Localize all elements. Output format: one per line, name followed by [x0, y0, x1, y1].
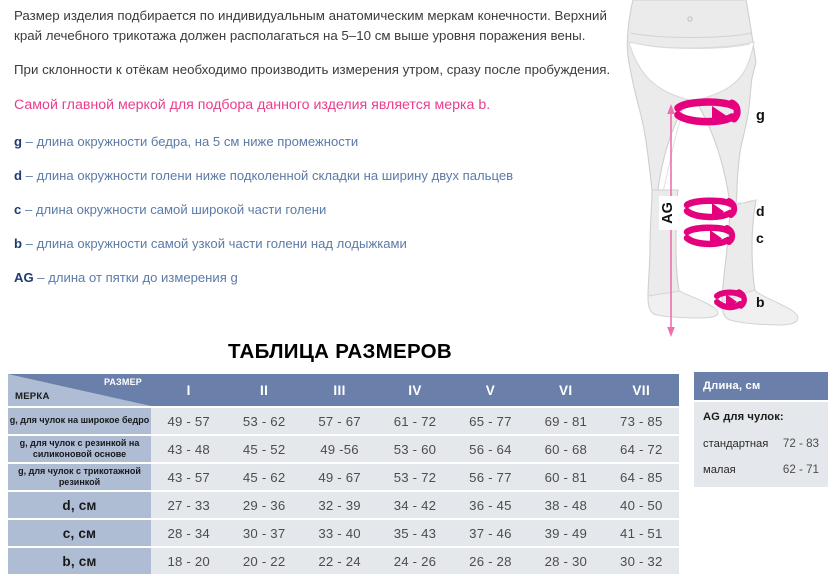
figure-label-b: b — [756, 294, 765, 310]
definition-item-b: b – длина окружности самой узкой части г… — [14, 235, 614, 252]
table-header-row: РАЗМЕР МЕРКА I II III IV V VI VII — [8, 374, 679, 406]
cell-r5-c2: 22 - 24 — [302, 548, 377, 574]
cell-r0-c1: 53 - 62 — [226, 408, 301, 434]
column-header-4: IV — [377, 374, 452, 406]
definition-text-c: длина окружности самой широкой части гол… — [36, 202, 326, 217]
definition-dash-ag: – — [37, 270, 44, 285]
row-label-g-knitted: g, для чулок с трикотажной резинкой — [8, 464, 151, 490]
figure-label-g: g — [756, 108, 765, 124]
column-header-2: II — [226, 374, 301, 406]
length-panel-header: Длина, см — [694, 372, 828, 400]
definition-key-ag: AG — [14, 270, 34, 285]
table-row: b, см 18 - 20 20 - 22 22 - 24 24 - 26 26… — [8, 548, 679, 574]
definition-text-ag: длина от пятки до измерения g — [48, 270, 238, 285]
anatomical-figure: AG g d c — [600, 0, 836, 345]
definition-text-g: длина окружности бедра, на 5 см ниже про… — [37, 134, 359, 149]
cell-r0-c6: 73 - 85 — [604, 408, 679, 434]
row-label-g-silicone: g, для чулок с резинкой на силиконовой о… — [8, 436, 151, 462]
intro-paragraph-1: Размер изделия подбирается по индивидуал… — [14, 6, 614, 45]
intro-text-column: Размер изделия подбирается по индивидуал… — [14, 6, 614, 303]
definition-text-b: длина окружности самой узкой части голен… — [37, 236, 407, 251]
size-table: РАЗМЕР МЕРКА I II III IV V VI VII g, для… — [8, 372, 679, 576]
table-row: g, для чулок с резинкой на силиконовой о… — [8, 436, 679, 462]
column-header-3: III — [302, 374, 377, 406]
cell-r2-c0: 43 - 57 — [151, 464, 226, 490]
table-corner-cell: РАЗМЕР МЕРКА — [8, 374, 151, 406]
definition-key-c: c — [14, 202, 21, 217]
length-row-standard-name: стандартная — [703, 438, 768, 450]
cell-r0-c0: 49 - 57 — [151, 408, 226, 434]
measure-ring-d — [687, 201, 734, 220]
definition-dash-d: – — [26, 168, 33, 183]
cell-r1-c1: 45 - 52 — [226, 436, 301, 462]
cell-r4-c4: 37 - 46 — [453, 520, 528, 546]
length-row-small-value: 62 - 71 — [783, 463, 819, 476]
cell-r0-c3: 61 - 72 — [377, 408, 452, 434]
definition-dash-c: – — [25, 202, 32, 217]
cell-r3-c0: 27 - 33 — [151, 492, 226, 518]
cell-r4-c3: 35 - 43 — [377, 520, 452, 546]
row-label-d: d, см — [8, 492, 151, 518]
figure-label-d: d — [756, 203, 765, 219]
cell-r0-c2: 57 - 67 — [302, 408, 377, 434]
cell-r0-c4: 65 - 77 — [453, 408, 528, 434]
cell-r5-c3: 24 - 26 — [377, 548, 452, 574]
definition-text-d: длина окружности голени ниже подколенной… — [37, 168, 514, 183]
definition-key-d: d — [14, 168, 22, 183]
definition-item-ag: AG – длина от пятки до измерения g — [14, 269, 614, 286]
measure-ring-c — [687, 228, 732, 247]
table-row: g, для чулок на широкое бедро 49 - 57 53… — [8, 408, 679, 434]
cell-r4-c5: 39 - 49 — [528, 520, 603, 546]
table-row: c, см 28 - 34 30 - 37 33 - 40 35 - 43 37… — [8, 520, 679, 546]
cell-r2-c5: 60 - 81 — [528, 464, 603, 490]
cell-r3-c6: 40 - 50 — [604, 492, 679, 518]
cell-r0-c5: 69 - 81 — [528, 408, 603, 434]
cell-r2-c1: 45 - 62 — [226, 464, 301, 490]
figure-label-c: c — [756, 230, 764, 246]
cell-r5-c1: 20 - 22 — [226, 548, 301, 574]
length-panel-body: AG для чулок: стандартная 72 - 83 малая … — [694, 402, 828, 487]
cell-r5-c4: 26 - 28 — [453, 548, 528, 574]
cell-r5-c6: 30 - 32 — [604, 548, 679, 574]
page-title: ТАБЛИЦА РАЗМЕРОВ — [0, 340, 680, 364]
cell-r1-c4: 56 - 64 — [453, 436, 528, 462]
cell-r2-c6: 64 - 85 — [604, 464, 679, 490]
cell-r4-c6: 41 - 51 — [604, 520, 679, 546]
cell-r3-c4: 36 - 45 — [453, 492, 528, 518]
cell-r2-c4: 56 - 77 — [453, 464, 528, 490]
cell-r1-c3: 53 - 60 — [377, 436, 452, 462]
column-header-7: VII — [604, 374, 679, 406]
definition-dash-g: – — [26, 134, 33, 149]
cell-r4-c2: 33 - 40 — [302, 520, 377, 546]
length-panel: Длина, см AG для чулок: стандартная 72 -… — [694, 372, 828, 487]
cell-r4-c1: 30 - 37 — [226, 520, 301, 546]
ag-label: AG — [660, 202, 676, 224]
cell-r3-c1: 29 - 36 — [226, 492, 301, 518]
length-panel-subtitle: AG для чулок: — [703, 411, 819, 423]
corner-size-label: РАЗМЕР — [104, 377, 142, 387]
length-row-standard: стандартная 72 - 83 — [703, 437, 819, 450]
length-row-standard-value: 72 - 83 — [783, 437, 819, 450]
column-header-5: V — [453, 374, 528, 406]
definition-item-g: g – длина окружности бедра, на 5 см ниже… — [14, 133, 614, 150]
definition-key-g: g — [14, 134, 22, 149]
definition-item-c: c – длина окружности самой широкой части… — [14, 201, 614, 218]
cell-r5-c0: 18 - 20 — [151, 548, 226, 574]
corner-merka-label: МЕРКА — [15, 391, 50, 402]
cell-r3-c3: 34 - 42 — [377, 492, 452, 518]
row-label-c: c, см — [8, 520, 151, 546]
cell-r2-c3: 53 - 72 — [377, 464, 452, 490]
cell-r5-c5: 28 - 30 — [528, 548, 603, 574]
female-lower-body-illustration — [627, 0, 798, 325]
length-row-small: малая 62 - 71 — [703, 463, 819, 476]
cell-r1-c5: 60 - 68 — [528, 436, 603, 462]
table-row: g, для чулок с трикотажной резинкой 43 -… — [8, 464, 679, 490]
cell-r2-c2: 49 - 67 — [302, 464, 377, 490]
left-foot — [648, 291, 718, 318]
cell-r1-c2: 49 -56 — [302, 436, 377, 462]
intro-paragraph-2: При склонности к отёкам необходимо произ… — [14, 60, 614, 80]
row-label-g-wide-hip: g, для чулок на широкое бедро — [8, 408, 151, 434]
row-label-b: b, см — [8, 548, 151, 574]
length-row-small-name: малая — [703, 464, 736, 476]
cell-r1-c6: 64 - 72 — [604, 436, 679, 462]
measurement-definition-list: g – длина окружности бедра, на 5 см ниже… — [14, 133, 614, 286]
cell-r1-c0: 43 - 48 — [151, 436, 226, 462]
definition-item-d: d – длина окружности голени ниже подколе… — [14, 167, 614, 184]
definition-dash-b: – — [26, 236, 33, 251]
cell-r3-c2: 32 - 39 — [302, 492, 377, 518]
cell-r4-c0: 28 - 34 — [151, 520, 226, 546]
column-header-6: VI — [528, 374, 603, 406]
cell-r3-c5: 38 - 48 — [528, 492, 603, 518]
highlight-note: Самой главной меркой для подбора данного… — [14, 95, 614, 115]
table-row: d, см 27 - 33 29 - 36 32 - 39 34 - 42 36… — [8, 492, 679, 518]
column-header-1: I — [151, 374, 226, 406]
definition-key-b: b — [14, 236, 22, 251]
